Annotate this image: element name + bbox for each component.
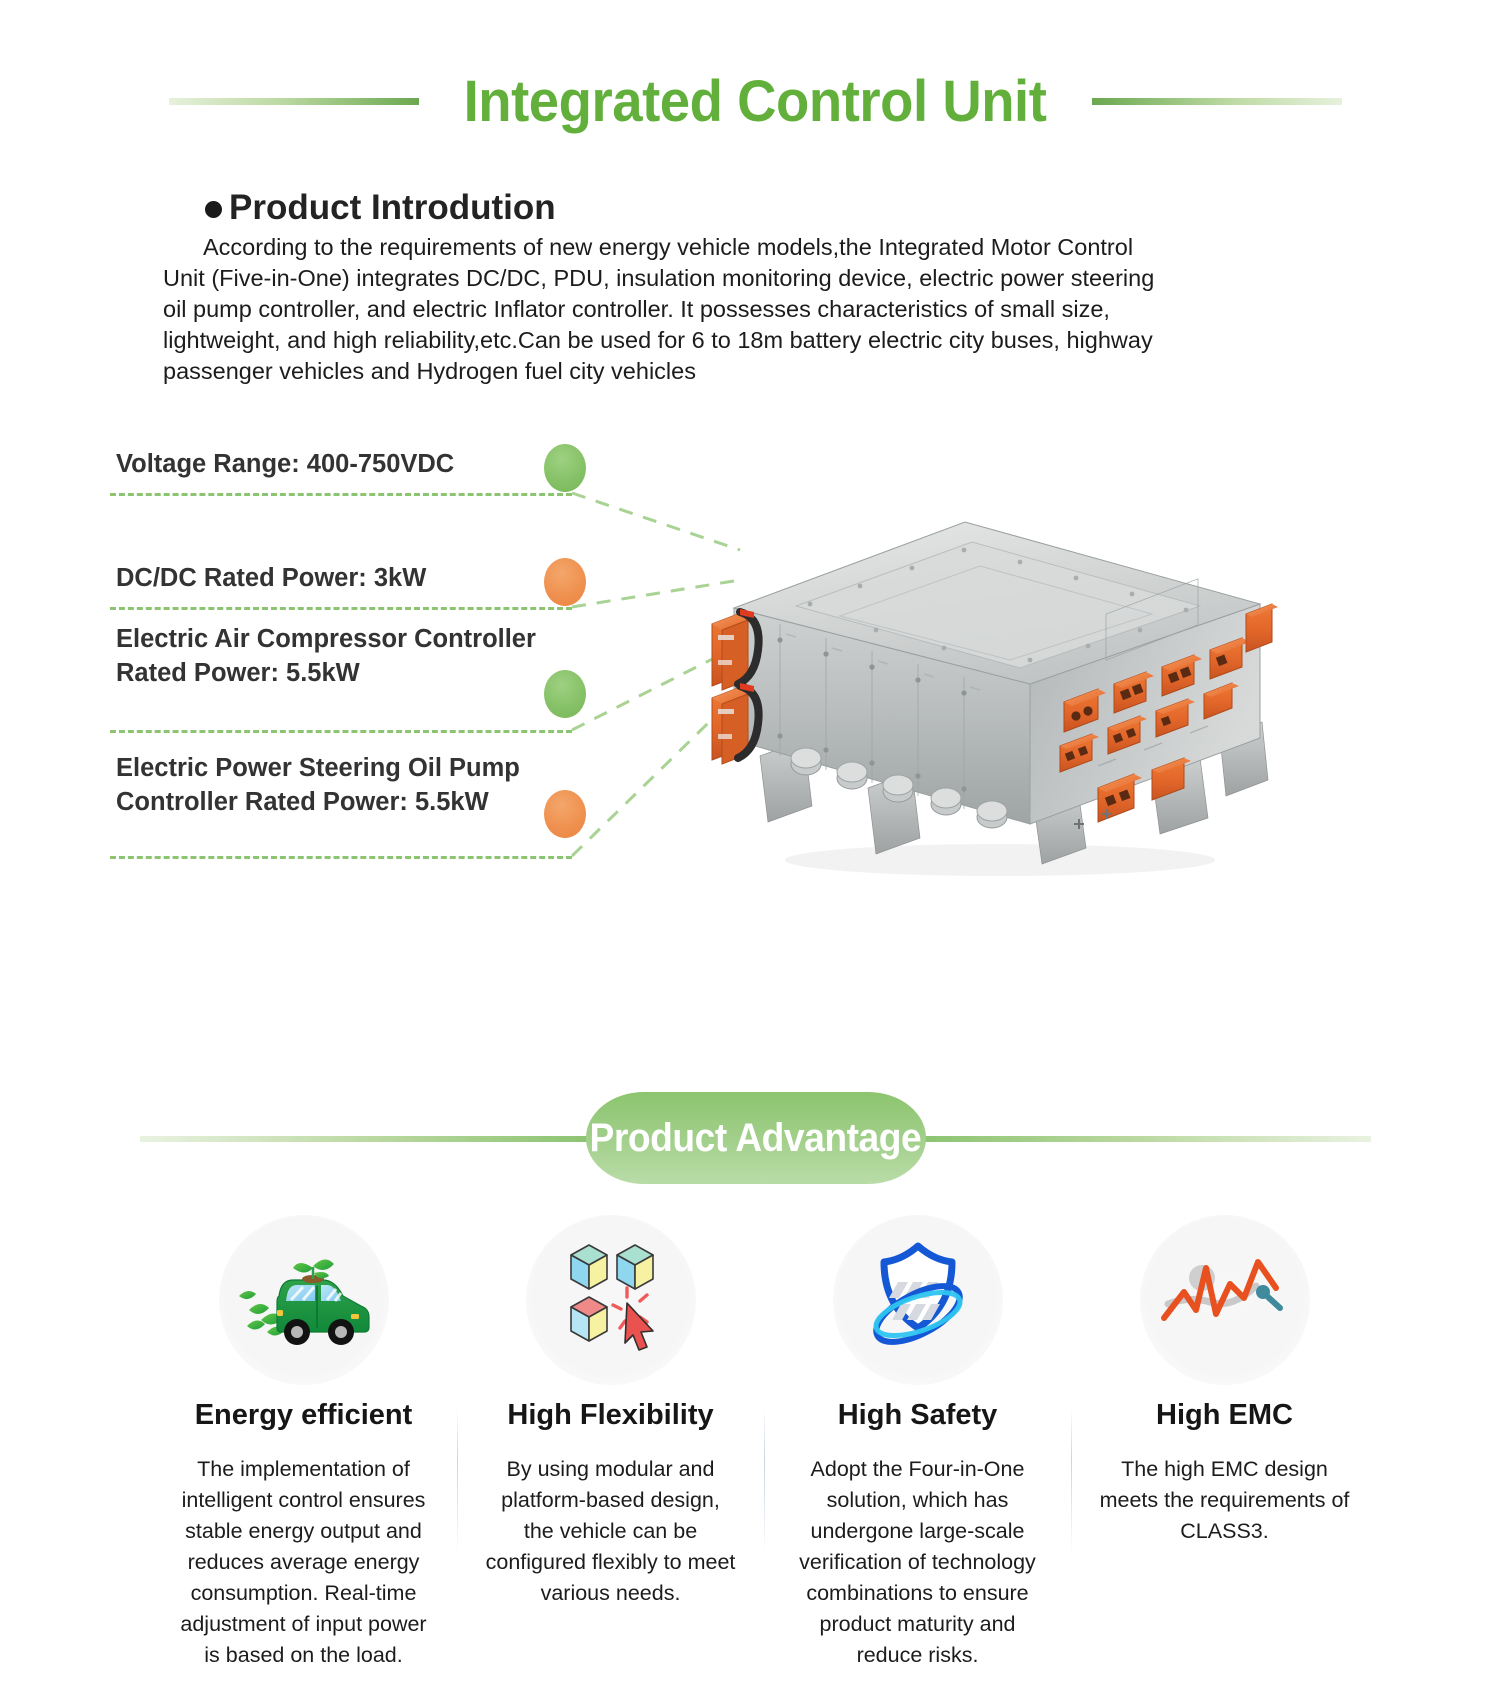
advantage-body-3: Adopt the Four-in-One solution, which ha… <box>792 1454 1044 1671</box>
advantage-card-high-safety: High Safety Adopt the Four-in-One soluti… <box>764 1215 1071 1671</box>
eco-car-icon <box>229 1240 379 1360</box>
page-title-row: Integrated Control Unit <box>0 68 1511 135</box>
bullet-dot-icon <box>205 201 222 218</box>
spec-label-steering-pump: Electric Power Steering Oil Pump Control… <box>116 752 576 819</box>
leader-line-3 <box>110 730 572 733</box>
advantage-title-2: High Flexibility <box>507 1399 713 1432</box>
advantage-card-list: Energy efficient The implementation of i… <box>150 1215 1380 1671</box>
advantage-pill-label: Product Advantage <box>590 1116 922 1161</box>
spec-label-air-compressor: Electric Air Compressor Controller Rated… <box>116 623 576 690</box>
advantage-card-high-flexibility: High Flexibility By using modular and pl… <box>457 1215 764 1609</box>
advantage-body-1: The implementation of intelligent contro… <box>178 1454 430 1671</box>
product-advantage-banner: Product Advantage <box>0 1092 1511 1184</box>
advantage-card-energy-efficient: Energy efficient The implementation of i… <box>150 1215 457 1671</box>
shield-orbit-icon <box>843 1230 993 1370</box>
title-rule-right <box>1092 98 1342 105</box>
product-introduction-body: According to the requirements of new ene… <box>163 232 1173 387</box>
product-image-integrated-control-unit <box>700 488 1280 900</box>
product-introduction-heading-label: Product Introdution <box>229 188 556 228</box>
advantage-title-4: High EMC <box>1156 1399 1293 1432</box>
icon-circle-3 <box>833 1215 1003 1385</box>
advantage-title-3: High Safety <box>838 1399 998 1432</box>
leader-line-2 <box>110 607 572 610</box>
signal-chart-icon <box>1150 1240 1300 1360</box>
product-datasheet-page: Integrated Control Unit Product Introdut… <box>0 0 1511 1700</box>
advantage-body-2: By using modular and platform-based desi… <box>485 1454 737 1609</box>
modular-cubes-cursor-icon <box>541 1235 681 1365</box>
advantage-pill: Product Advantage <box>586 1092 926 1184</box>
title-rule-left <box>169 98 419 105</box>
icon-circle-4 <box>1140 1215 1310 1385</box>
icon-circle-1 <box>219 1215 389 1385</box>
icon-circle-2 <box>526 1215 696 1385</box>
leader-line-1 <box>110 493 572 496</box>
spec-label-voltage-range: Voltage Range: 400-750VDC <box>116 448 576 482</box>
advantage-title-1: Energy efficient <box>195 1399 413 1432</box>
advantage-rule-right <box>921 1136 1371 1142</box>
product-introduction-heading: Product Introdution <box>205 188 556 228</box>
advantage-card-high-emc: High EMC The high EMC design meets the r… <box>1071 1215 1378 1547</box>
advantage-rule-left <box>140 1136 590 1142</box>
spec-label-dcdc-power: DC/DC Rated Power: 3kW <box>116 562 576 596</box>
advantage-body-4: The high EMC design meets the requiremen… <box>1099 1454 1351 1547</box>
leader-line-4 <box>110 856 572 859</box>
page-title: Integrated Control Unit <box>440 68 1072 135</box>
